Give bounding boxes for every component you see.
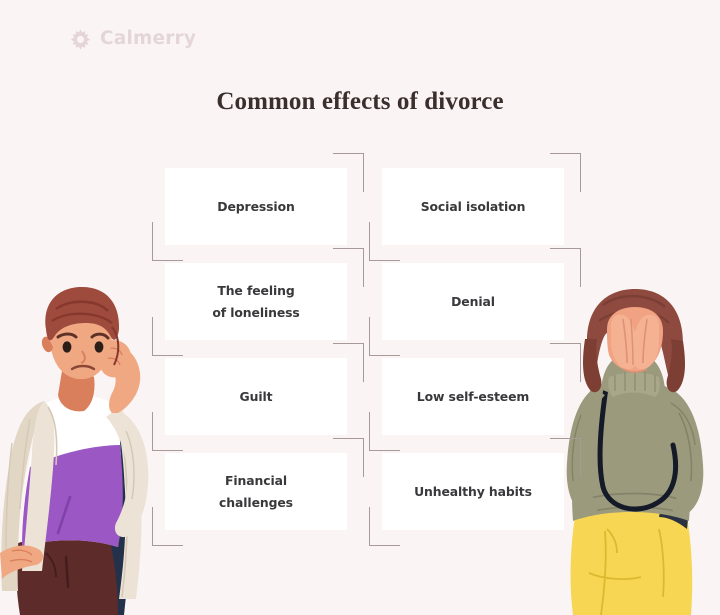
effect-label-line1: Social isolation xyxy=(421,196,526,218)
effect-label: Denial xyxy=(382,263,564,340)
effect-label-line1: The feeling xyxy=(217,280,294,302)
effect-card-loneliness[interactable]: The feeling of loneliness xyxy=(165,263,347,340)
effect-label-line1: Unhealthy habits xyxy=(414,481,532,503)
effect-label: Social isolation xyxy=(382,168,564,245)
effect-card-financial-challenges[interactable]: Financial challenges xyxy=(165,453,347,530)
effect-label-line1: Denial xyxy=(451,291,495,313)
effect-card-unhealthy-habits[interactable]: Unhealthy habits xyxy=(382,453,564,530)
effect-card-social-isolation[interactable]: Social isolation xyxy=(382,168,564,245)
effect-label-line2: of loneliness xyxy=(212,302,299,324)
effect-label: Unhealthy habits xyxy=(382,453,564,530)
effect-label: Guilt xyxy=(165,358,347,435)
effects-grid: Depression The feeling of loneliness Gui… xyxy=(0,0,720,615)
effect-card-depression[interactable]: Depression xyxy=(165,168,347,245)
effect-card-low-self-esteem[interactable]: Low self-esteem xyxy=(382,358,564,435)
effect-label-line2: challenges xyxy=(219,492,293,514)
infographic-canvas: Calmerry Common effects of divorce xyxy=(0,0,720,615)
effect-card-guilt[interactable]: Guilt xyxy=(165,358,347,435)
effect-label-line1: Depression xyxy=(217,196,294,218)
effect-label-line1: Low self-esteem xyxy=(417,386,529,408)
effect-label: Financial challenges xyxy=(165,453,347,530)
effect-label: Depression xyxy=(165,168,347,245)
effect-label-line1: Guilt xyxy=(240,386,273,408)
effect-label-line1: Financial xyxy=(225,470,287,492)
effect-label: Low self-esteem xyxy=(382,358,564,435)
effect-label: The feeling of loneliness xyxy=(165,263,347,340)
effect-card-denial[interactable]: Denial xyxy=(382,263,564,340)
